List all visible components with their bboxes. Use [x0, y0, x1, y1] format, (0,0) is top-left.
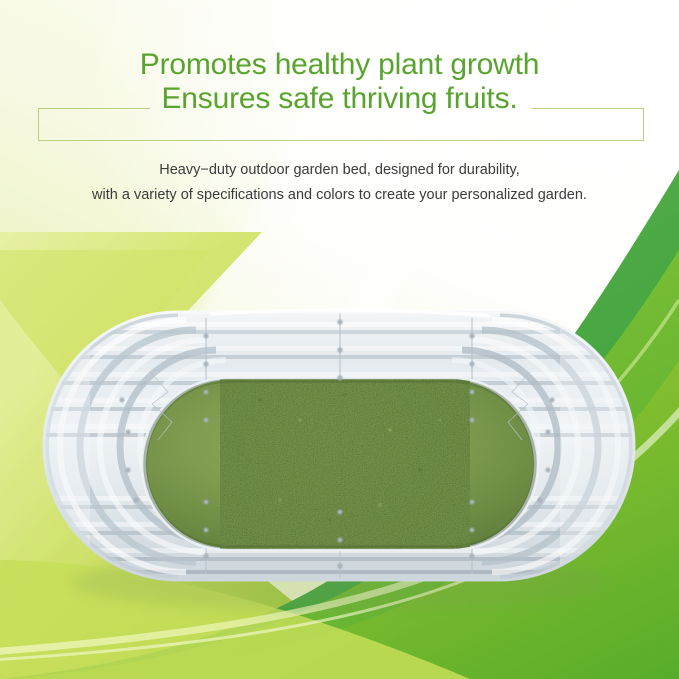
headline-line-2: Ensures safe thriving fruits. — [0, 82, 679, 116]
subtitle: Heavy−duty outdoor garden bed, designed … — [0, 158, 679, 208]
subtitle-line-1: Heavy−duty outdoor garden bed, designed … — [0, 158, 679, 183]
subtitle-line-2: with a variety of specifications and col… — [0, 183, 679, 208]
headline: Promotes healthy plant growth Ensures sa… — [0, 48, 679, 116]
headline-line-1: Promotes healthy plant growth — [0, 48, 679, 82]
product-banner: Promotes healthy plant growth Ensures sa… — [0, 0, 679, 679]
